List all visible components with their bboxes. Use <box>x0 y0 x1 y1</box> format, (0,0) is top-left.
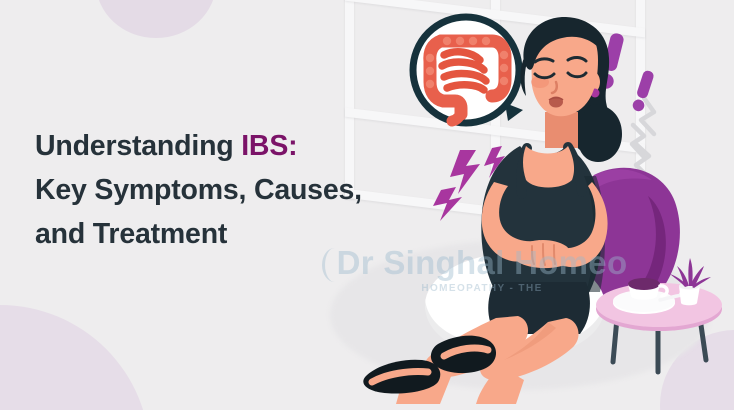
intestine-thought-bubble <box>413 17 523 123</box>
plant-leaves <box>670 258 711 288</box>
headline-line-1-prefix: Understanding <box>35 130 241 162</box>
sandals <box>363 336 496 394</box>
ibs-article-banner: Understanding IBS: Key Symptoms, Causes,… <box>0 0 734 410</box>
headline-line-2: Key Symptoms, Causes, <box>35 168 365 212</box>
page-title: Understanding IBS: Key Symptoms, Causes,… <box>35 124 365 256</box>
headline-accent-ibs: IBS: <box>241 130 297 162</box>
headline-line-1: Understanding IBS: <box>35 124 365 168</box>
headline-line-3: and Treatment <box>35 212 365 256</box>
